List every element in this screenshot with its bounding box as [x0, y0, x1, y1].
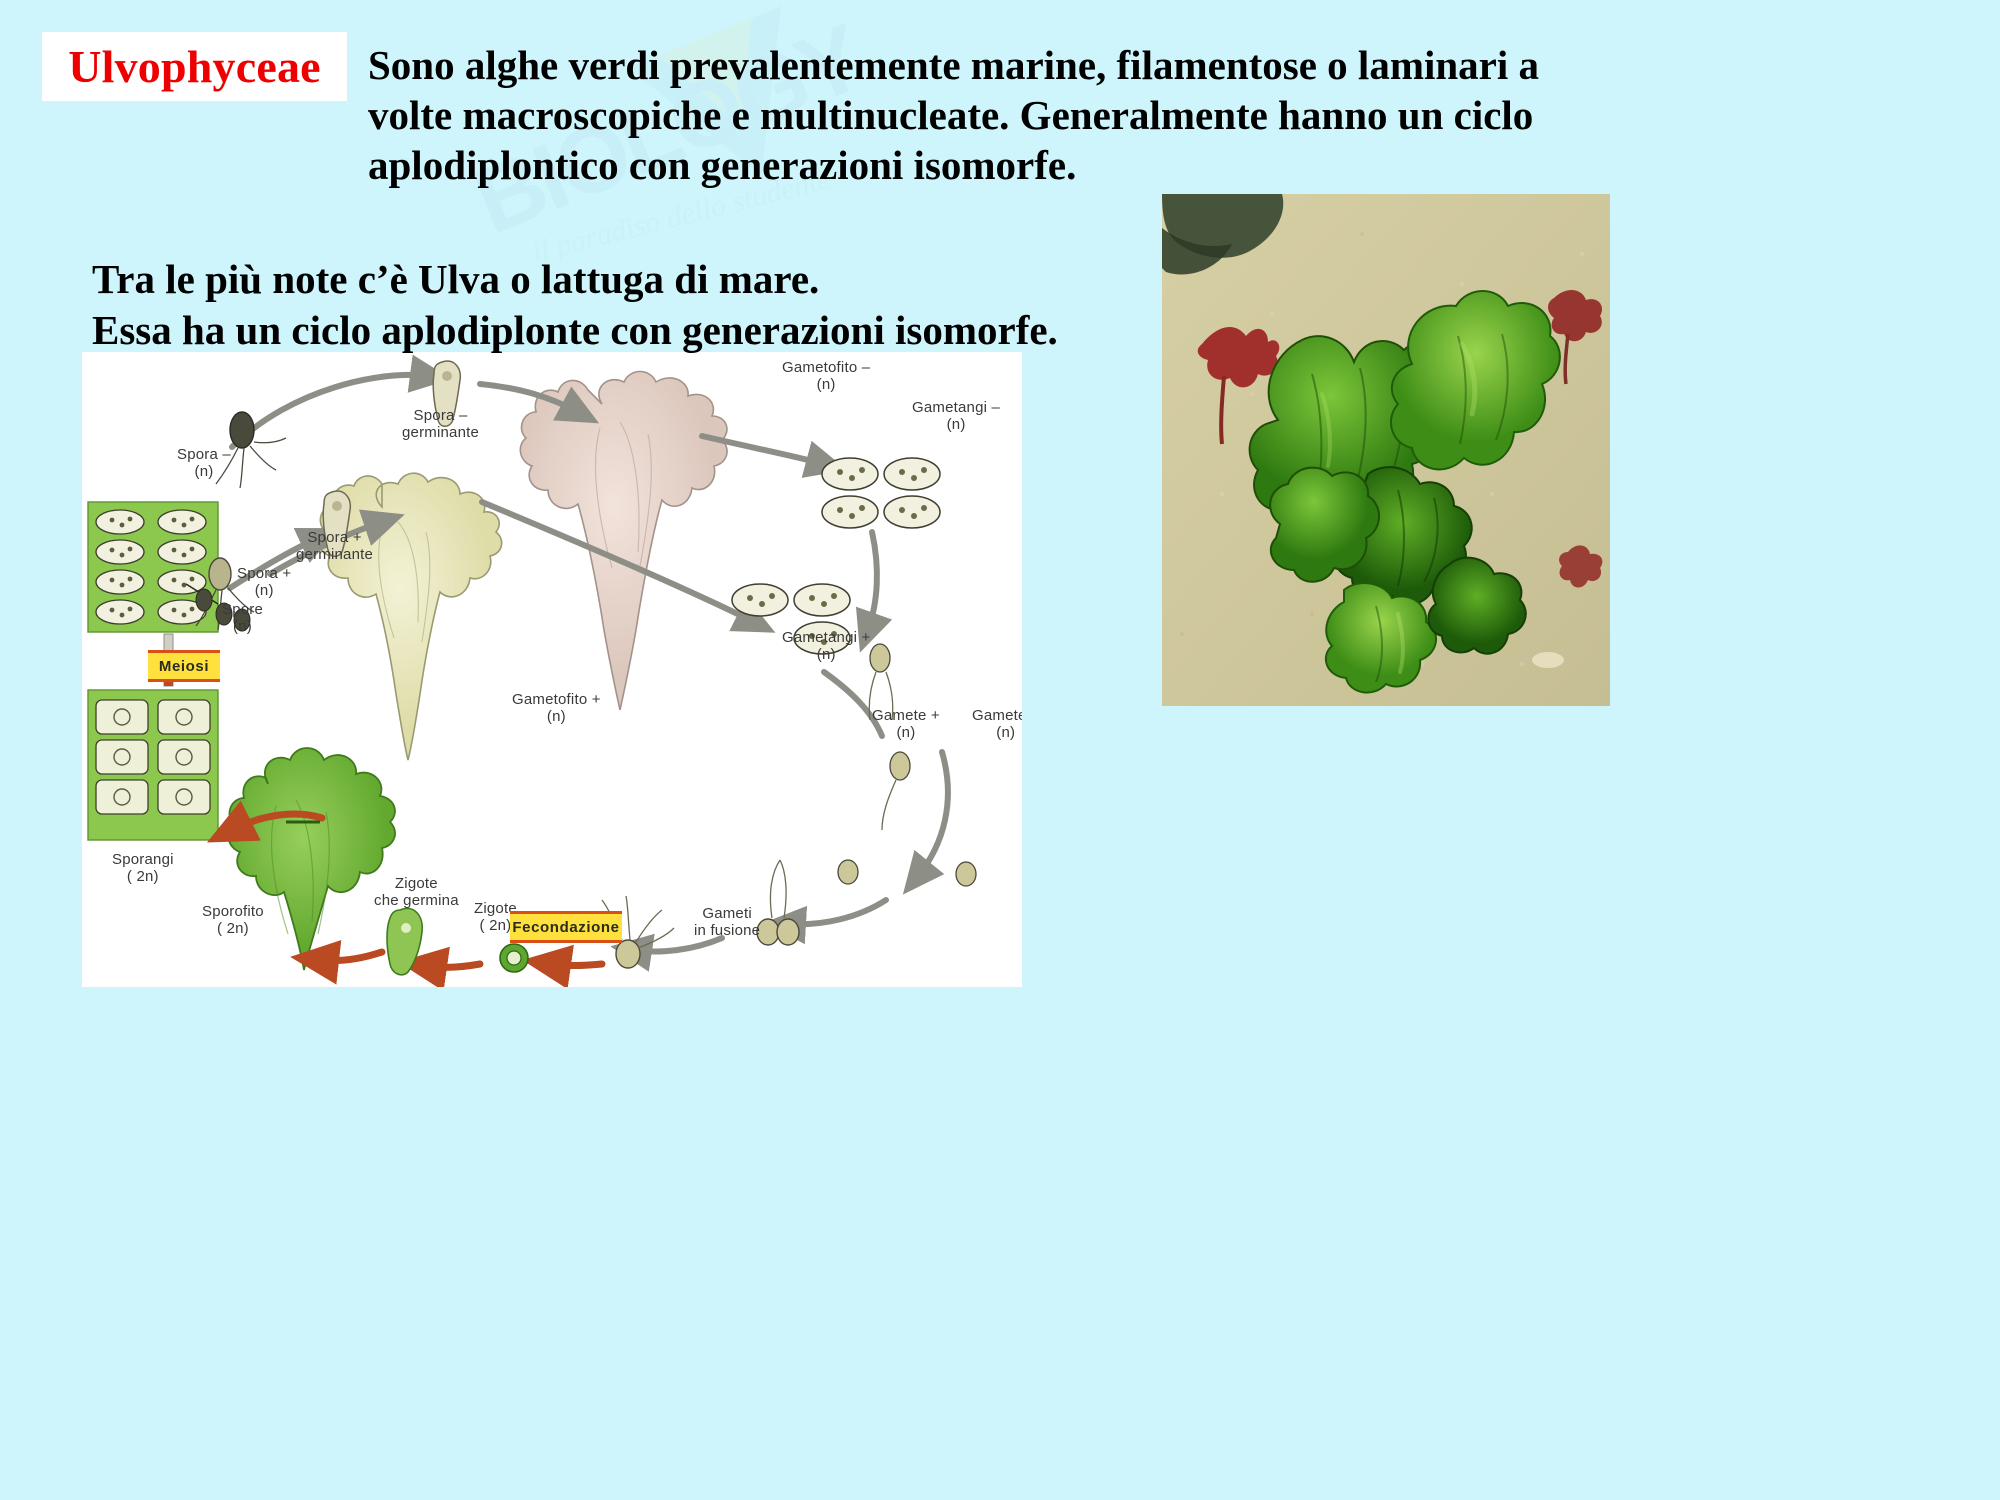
para2-line-2: Essa ha un ciclo aplodiplonte con genera…: [92, 305, 1132, 356]
ulva-sea-lettuce-photo: [1162, 194, 1610, 706]
page-title: Ulvophyceae: [68, 40, 321, 93]
diagram-label-spora-minus: Spora –(n): [177, 447, 231, 481]
diagram-label-spora-plus-germinante: Spora +germinante: [296, 530, 373, 564]
meiosi-highlight-box: Meiosi: [148, 650, 220, 682]
gamete-cells: [838, 644, 976, 886]
intro-line-1: Sono alghe verdi prevalentemente marine,…: [368, 40, 1966, 90]
fecondazione-highlight-box: Fecondazione: [510, 911, 622, 943]
diagram-label-gamete-plus: Gamete +(n): [872, 708, 940, 742]
diagram-label-zigote-che-germina: Zigoteche germina: [374, 876, 459, 910]
diagram-label-sporofito: Sporofito( 2n): [202, 904, 264, 938]
gametofito-minus-thallus: [520, 372, 727, 711]
diagram-label-gametofito-minus: Gametofito –(n): [782, 360, 870, 394]
sporangi-tissue-top: [88, 502, 218, 632]
ulva-photo-artwork: [1162, 194, 1610, 706]
diagram-label-spora-minus-germinante: Spora –germinante: [402, 408, 479, 442]
intro-line-2: volte macroscopiche e multinucleate. Gen…: [368, 90, 1966, 140]
diagram-label-spore: Spore(n): [222, 602, 263, 636]
ulva-life-cycle-diagram: Spora –(n) Spora –germinante Spora +germ…: [82, 352, 1022, 987]
secondary-paragraph: Tra le più note c’è Ulva o lattuga di ma…: [92, 254, 1132, 357]
diagram-label-sporangi: Sporangi( 2n): [112, 852, 174, 886]
diagram-label-gametangi-plus: Gametangi +(n): [782, 630, 871, 664]
diagram-label-gametangi-minus: Gametangi –(n): [912, 400, 1000, 434]
sporangi-tissue-bottom: [88, 690, 218, 840]
para2-line-1: Tra le più note c’è Ulva o lattuga di ma…: [92, 254, 1132, 305]
gameti-in-fusione-cells: [757, 860, 799, 945]
zigote-che-germina-cell: [387, 908, 422, 974]
intro-paragraph: Sono alghe verdi prevalentemente marine,…: [368, 40, 1966, 190]
diagram-label-gamete-minus: Gamete –(n): [972, 708, 1022, 742]
zigote-cell: [500, 944, 528, 972]
slide-title-box: Ulvophyceae: [42, 32, 347, 101]
diagram-label-gametofito-plus: Gametofito +(n): [512, 692, 601, 726]
gametangi-minus-cells: [822, 458, 940, 528]
diagram-label-gameti-in-fusione: Gametiin fusione: [694, 906, 760, 940]
diagram-label-spora-plus: Spora +(n): [237, 566, 291, 600]
intro-line-3: aplodiplontico con generazioni isomorfe.: [368, 140, 1966, 190]
